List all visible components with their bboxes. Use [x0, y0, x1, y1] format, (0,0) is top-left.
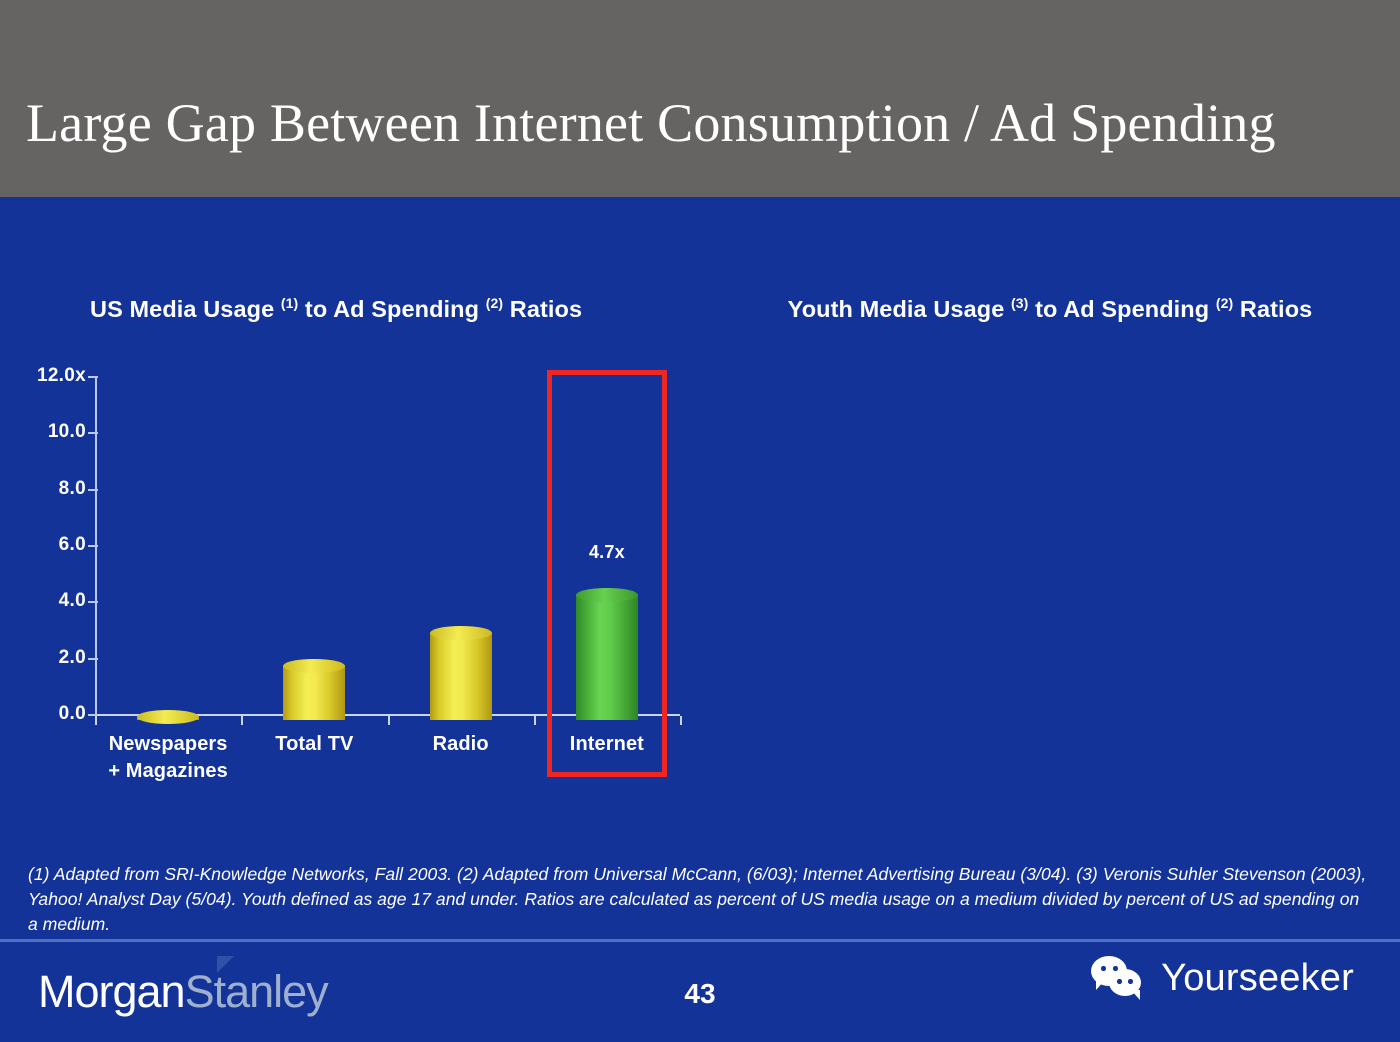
bar-total-tv: [283, 659, 345, 720]
y-axis-tick: [88, 601, 98, 603]
chart-title-us-part-b: to Ad Spending: [298, 296, 485, 322]
bar-newspapers-magazines: [137, 710, 199, 720]
y-axis-tick: [88, 432, 98, 434]
bar-body: [430, 633, 492, 720]
category-label-line: + Magazines: [73, 758, 263, 785]
y-axis-label: 2.0: [1380, 647, 1400, 669]
y-axis-label: 8.0: [0, 478, 86, 500]
wechat-icon: [1091, 956, 1147, 1000]
chart-title-youth-part-b: to Ad Spending: [1028, 296, 1215, 322]
y-axis-label: 0.0: [1380, 703, 1400, 725]
y-axis-label: 10.0: [0, 421, 86, 443]
chart-title-youth-part-a: Youth Media Usage: [788, 296, 1011, 322]
slide-body: US Media Usage (1) to Ad Spending (2) Ra…: [0, 197, 1400, 1042]
chart-youth-media-usage: Youth Media Usage (3) to Ad Spending (2)…: [700, 197, 1400, 817]
y-axis-label: 2.0: [0, 647, 86, 669]
y-axis-label: 12.0x: [0, 365, 86, 387]
watermark-text: Yourseeker: [1161, 957, 1354, 1000]
highlight-box-internet: [547, 370, 667, 777]
y-axis-line: [95, 378, 97, 716]
chart-title-us: US Media Usage (1) to Ad Spending (2) Ra…: [0, 285, 700, 327]
x-axis-tick: [95, 716, 97, 725]
chart-title-us-footnote-ref-2: (2): [486, 295, 503, 311]
y-axis-tick: [88, 658, 98, 660]
x-axis-tick: [388, 716, 390, 725]
y-axis-tick: [88, 545, 98, 547]
x-axis-tick: [680, 716, 682, 725]
page-title: Large Gap Between Internet Consumption /…: [26, 92, 1276, 154]
x-axis-tick: [534, 716, 536, 725]
slide-footer: MorganStanley 43 Yourseeker: [0, 942, 1400, 1042]
chart-title-us-footnote-ref-1: (1): [281, 295, 298, 311]
chart-title-youth-footnote-ref-2: (2): [1216, 295, 1233, 311]
y-axis-tick: [88, 489, 98, 491]
y-axis-label: 12.0x: [1380, 365, 1400, 387]
y-axis-label: 6.0: [1380, 534, 1400, 556]
y-axis-label: 8.0: [1380, 478, 1400, 500]
footnote-sources: (1) Adapted from SRI-Knowledge Networks,…: [28, 862, 1368, 937]
bar-body: [283, 666, 345, 720]
y-axis-label: 4.0: [1380, 590, 1400, 612]
bar-radio: [430, 626, 492, 720]
chart-title-youth-footnote-ref-3: (3): [1011, 295, 1028, 311]
bar-cap: [137, 710, 199, 724]
y-axis-tick: [88, 376, 98, 378]
chart-us-media-usage: US Media Usage (1) to Ad Spending (2) Ra…: [0, 197, 700, 817]
chart-title-us-part-c: Ratios: [503, 296, 582, 322]
chart-title-youth: Youth Media Usage (3) to Ad Spending (2)…: [700, 285, 1400, 327]
y-axis-label: 6.0: [0, 534, 86, 556]
chart-title-us-part-a: US Media Usage: [90, 296, 281, 322]
chart-title-youth-part-c: Ratios: [1233, 296, 1312, 322]
y-axis-label: 10.0: [1380, 421, 1400, 443]
plot-area-us: 12.0x10.08.06.04.02.00.0Newspapers+ Maga…: [30, 372, 690, 722]
x-axis-tick: [241, 716, 243, 725]
yourseeker-watermark: Yourseeker: [1091, 956, 1354, 1000]
y-axis-label: 4.0: [0, 590, 86, 612]
y-axis-label: 0.0: [0, 703, 86, 725]
morgan-stanley-triangle-icon: [217, 956, 234, 973]
bar-cap: [430, 626, 492, 640]
